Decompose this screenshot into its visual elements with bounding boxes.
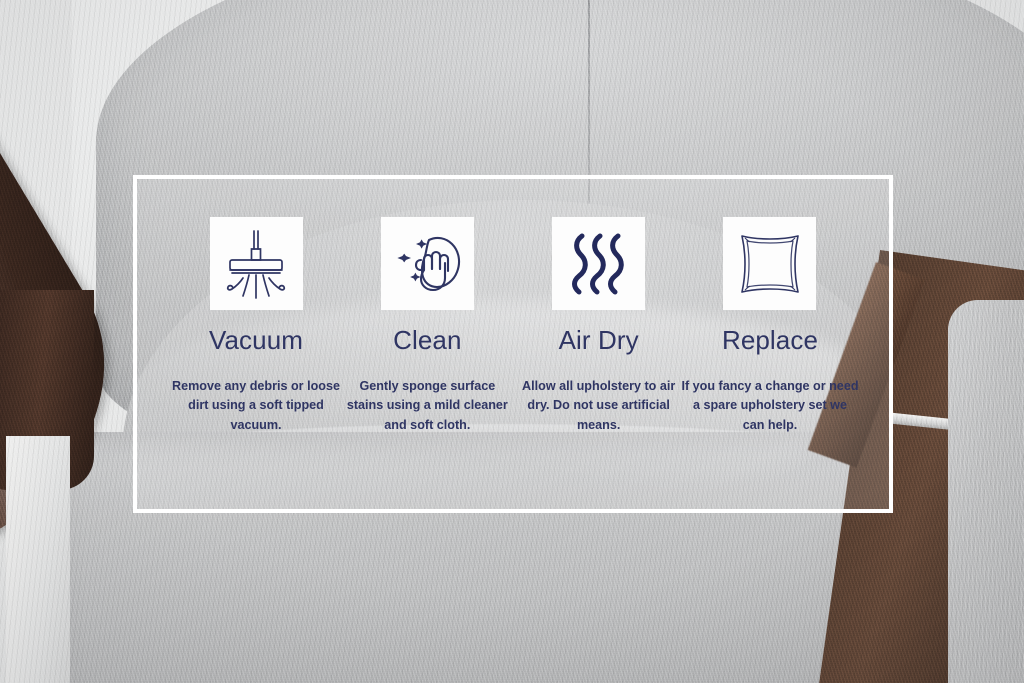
vacuum-nozzle-icon	[210, 217, 303, 310]
care-card-row: Vacuum Remove any debris or loose dirt u…	[171, 217, 855, 436]
care-card-body: If you fancy a change or need a spare up…	[681, 377, 859, 437]
screenshot-canvas: Vacuum Remove any debris or loose dirt u…	[0, 0, 1024, 683]
care-card-vacuum: Vacuum Remove any debris or loose dirt u…	[171, 217, 341, 436]
care-instructions-frame: Vacuum Remove any debris or loose dirt u…	[133, 175, 893, 513]
care-card-replace: Replace If you fancy a change or need a …	[685, 217, 855, 436]
care-card-clean: Clean Gently sponge surface stains using…	[342, 217, 512, 436]
care-card-title: Replace	[722, 326, 818, 355]
care-card-title: Air Dry	[559, 326, 639, 355]
care-card-title: Clean	[393, 326, 461, 355]
care-card-air-dry: Air Dry Allow all upholstery to air dry.…	[514, 217, 684, 436]
care-card-body: Allow all upholstery to air dry. Do not …	[510, 377, 688, 437]
cushion-pillow-icon	[723, 217, 816, 310]
air-waves-icon	[552, 217, 645, 310]
care-card-body: Gently sponge surface stains using a mil…	[343, 377, 511, 437]
care-card-title: Vacuum	[209, 326, 303, 355]
care-card-body: Remove any debris or loose dirt using a …	[172, 377, 340, 437]
hand-with-cloth-sparkle-icon	[381, 217, 474, 310]
